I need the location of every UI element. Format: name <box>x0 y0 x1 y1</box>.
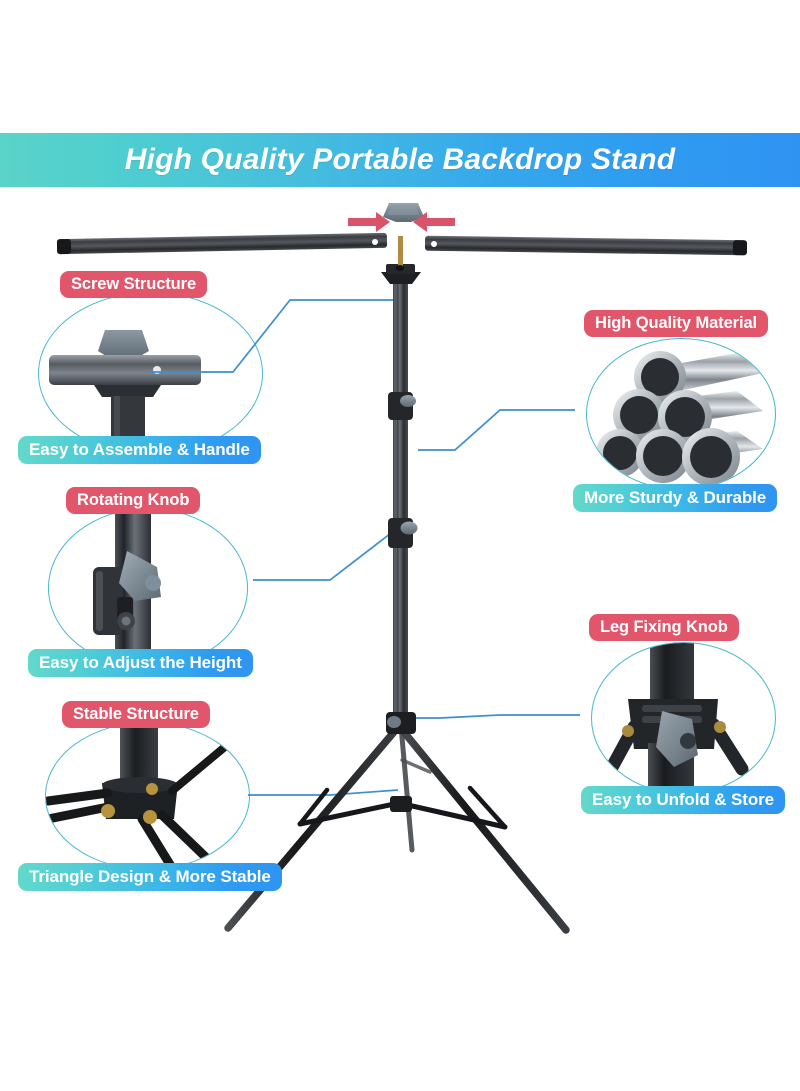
tripod-legs <box>228 726 566 930</box>
arrow-left-inward <box>348 212 390 232</box>
pill-more-sturdy: More Sturdy & Durable <box>573 484 777 512</box>
crossbar-left <box>57 233 387 254</box>
center-pole <box>393 283 408 728</box>
tag-screw-structure: Screw Structure <box>60 271 207 298</box>
pill-easy-to-unfold: Easy to Unfold & Store <box>581 786 785 814</box>
crossbar-right <box>425 236 747 255</box>
height-knob-lower <box>388 518 418 548</box>
pill-easy-to-adjust: Easy to Adjust the Height <box>28 649 253 677</box>
tag-stable-structure: Stable Structure <box>62 701 210 728</box>
tag-leg-fixing-knob: Leg Fixing Knob <box>589 614 739 641</box>
pill-easy-to-assemble: Easy to Assemble & Handle <box>18 436 261 464</box>
tag-high-quality-material: High Quality Material <box>584 310 768 337</box>
tripod-hub <box>386 712 416 734</box>
infographic-canvas: High Quality Portable Backdrop Stand <box>0 0 800 1091</box>
product-illustration <box>0 0 800 1091</box>
height-knob-upper <box>388 392 416 420</box>
tag-rotating-knob: Rotating Knob <box>66 487 200 514</box>
pill-triangle-design: Triangle Design & More Stable <box>18 863 282 891</box>
